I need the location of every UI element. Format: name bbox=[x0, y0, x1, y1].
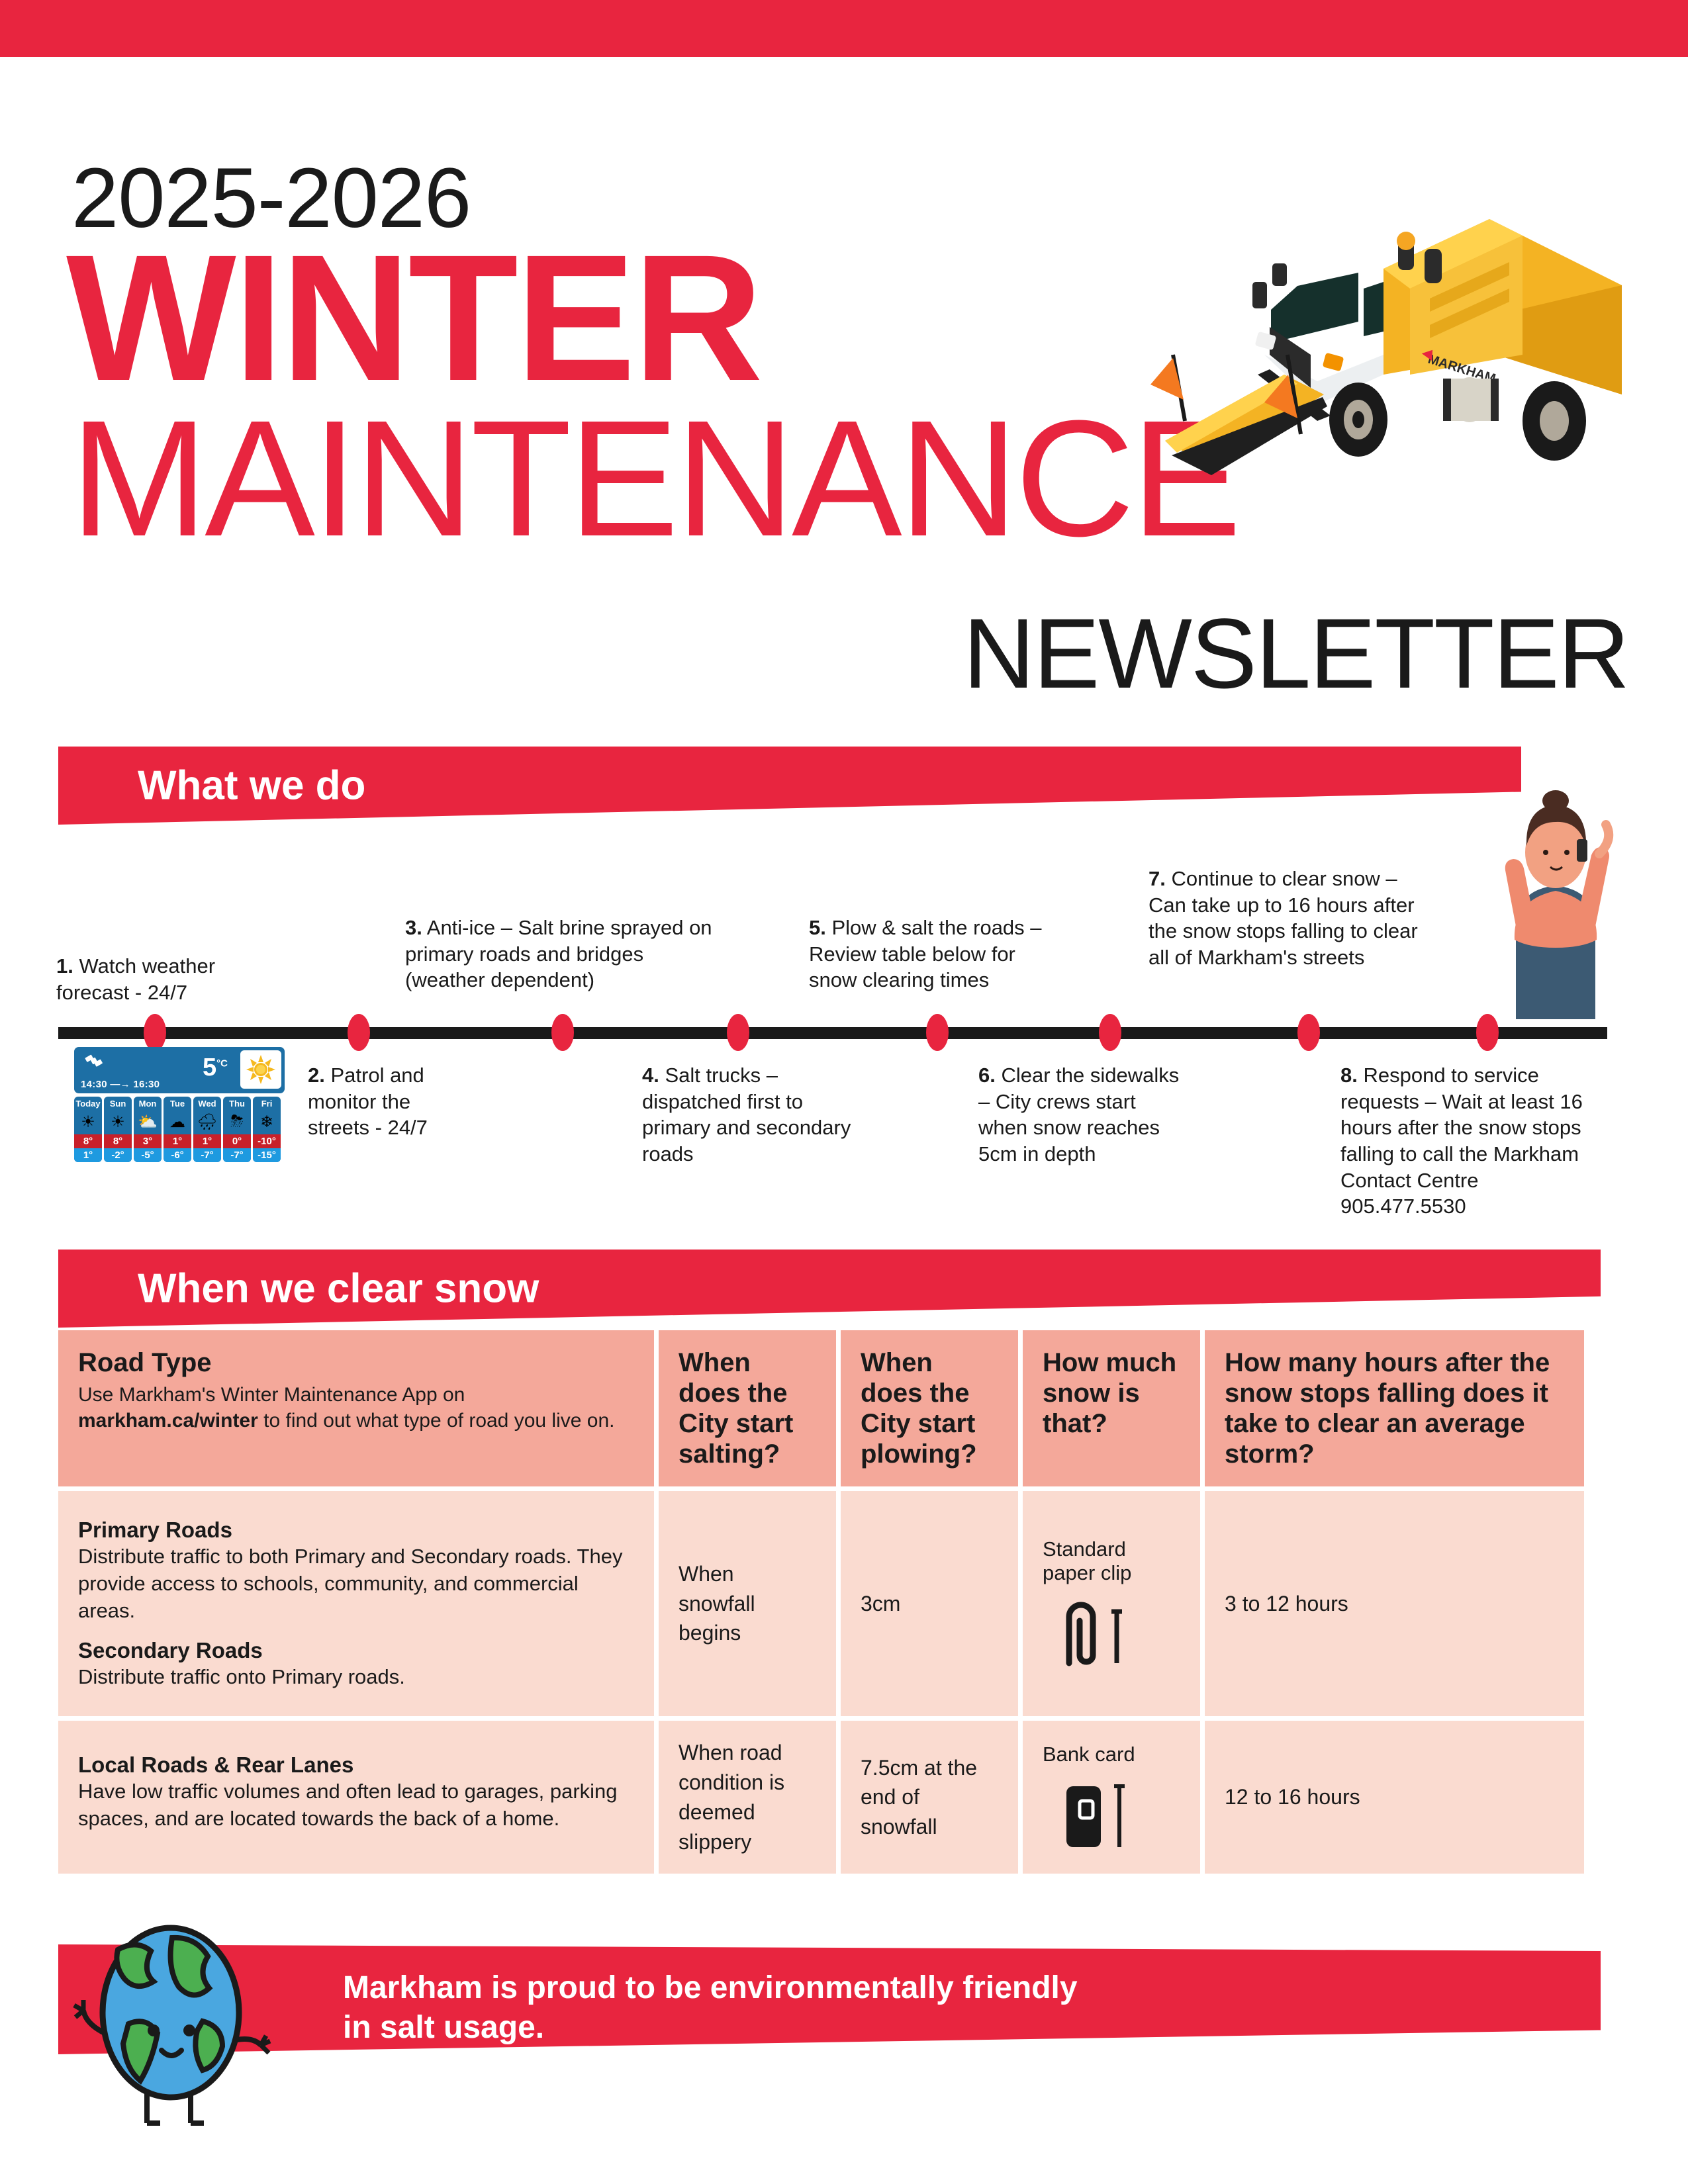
weather-condition-icon: ⛅ bbox=[134, 1109, 162, 1134]
environmental-message-line2: in salt usage. bbox=[343, 2008, 1078, 2048]
timeline-dot-7 bbox=[1297, 1014, 1320, 1051]
timeline-dot-1 bbox=[144, 1014, 166, 1051]
weather-current-panel: 14:30 —→ 16:30 5°C bbox=[74, 1047, 285, 1093]
weather-condition-icon: ❄ bbox=[253, 1109, 281, 1134]
row1-plowing-value: 3cm bbox=[861, 1589, 900, 1619]
bank-card-icon bbox=[1043, 1776, 1180, 1852]
environmental-message-banner: Markham is proud to be environmentally f… bbox=[58, 1944, 1601, 2054]
header-cell-clearing-hours: How many hours after the snow stops fall… bbox=[1205, 1330, 1584, 1486]
timeline-step-2-text: Patrol and monitor the streets - 24/7 bbox=[308, 1064, 428, 1139]
header-road-type-subtitle: Use Markham's Winter Maintenance App on … bbox=[78, 1382, 634, 1433]
weather-current-temp: 5°C bbox=[203, 1054, 228, 1082]
timeline-step-5-text: Plow & salt the roads – Review table bel… bbox=[809, 916, 1042, 991]
title-winter: WINTER bbox=[66, 228, 761, 408]
header-cell-salting: When does the City start salting? bbox=[659, 1330, 836, 1486]
timeline-dot-3 bbox=[551, 1014, 574, 1051]
row2-hours-cell: 12 to 16 hours bbox=[1205, 1721, 1584, 1874]
row2-snow-caption: Bank card bbox=[1043, 1743, 1180, 1766]
forecast-day-name: Wed bbox=[193, 1097, 221, 1109]
weather-condition-icon: 🌧 bbox=[193, 1109, 221, 1134]
forecast-low: -15° bbox=[253, 1148, 281, 1162]
timeline-step-1-number: 1. bbox=[56, 954, 73, 978]
header-cell-snow-amount: How much snow is that? bbox=[1023, 1330, 1200, 1486]
forecast-day-name: Mon bbox=[134, 1097, 162, 1109]
timeline-step-1: 1. Watch weather forecast - 24/7 bbox=[56, 953, 275, 1005]
timeline-step-3: 3. Anti-ice – Salt brine sprayed on prim… bbox=[405, 915, 716, 993]
timeline-step-6-number: 6. bbox=[978, 1064, 996, 1087]
row2-local-title: Local Roads & Rear Lanes bbox=[78, 1751, 634, 1778]
earth-mascot-icon bbox=[73, 1910, 271, 2128]
timeline-step-4: 4. Salt trucks – dispatched first to pri… bbox=[642, 1062, 861, 1167]
table-header-row: Road Type Use Markham's Winter Maintenan… bbox=[58, 1330, 1601, 1486]
timeline-dot-2 bbox=[348, 1014, 370, 1051]
row1-snow-caption: Standard paper clip bbox=[1043, 1537, 1180, 1585]
header-salting-label: When does the City start salting? bbox=[679, 1347, 816, 1469]
table-row: Local Roads & Rear Lanes Have low traffi… bbox=[58, 1721, 1601, 1874]
row1-salting-cell: When snowfall begins bbox=[659, 1491, 836, 1716]
timeline-step-5-number: 5. bbox=[809, 916, 826, 939]
road-type-sub-b: to find out what type of road you live o… bbox=[258, 1410, 615, 1432]
sun-icon bbox=[240, 1050, 281, 1089]
table-row: Primary Roads Distribute traffic to both… bbox=[58, 1491, 1601, 1716]
header-snow-label: How much snow is that? bbox=[1043, 1347, 1180, 1439]
paper-clip-icon bbox=[1043, 1594, 1180, 1670]
forecast-high: -10° bbox=[253, 1134, 281, 1148]
forecast-high: 1° bbox=[193, 1134, 221, 1148]
environmental-message: Markham is proud to be environmentally f… bbox=[343, 1968, 1078, 2047]
timeline-step-8-number: 8. bbox=[1340, 1064, 1358, 1087]
row2-local-desc: Have low traffic volumes and often lead … bbox=[78, 1778, 634, 1833]
timeline-step-5: 5. Plow & salt the roads – Review table … bbox=[809, 915, 1067, 993]
forecast-day: Tue ☁ 1° -6° bbox=[164, 1097, 191, 1162]
timeline-step-3-number: 3. bbox=[405, 916, 422, 939]
row1-salting-value: When snowfall begins bbox=[679, 1559, 816, 1648]
timeline-dot-5 bbox=[926, 1014, 949, 1051]
forecast-day-name: Thu bbox=[223, 1097, 251, 1109]
weather-time-range: 14:30 —→ 16:30 bbox=[81, 1079, 160, 1090]
timeline-step-3-text: Anti-ice – Salt brine sprayed on primary… bbox=[405, 916, 712, 991]
forecast-day-name: Sun bbox=[104, 1097, 132, 1109]
title-maintenance: MAINTENANCE bbox=[70, 396, 1239, 561]
top-red-bar bbox=[0, 0, 1688, 57]
row1-primary-desc: Distribute traffic to both Primary and S… bbox=[78, 1543, 634, 1625]
weather-condition-icon: ☀ bbox=[74, 1109, 102, 1134]
newsletter-page: 2025-2026 WINTER MAINTENANCE NEWSLETTER bbox=[0, 0, 1688, 2184]
header-road-type-title: Road Type bbox=[78, 1347, 634, 1378]
forecast-day-name: Tue bbox=[164, 1097, 191, 1109]
timeline-dot-4 bbox=[727, 1014, 749, 1051]
row2-salting-value: When road condition is deemed slippery bbox=[679, 1738, 816, 1856]
snow-clearing-table: Road Type Use Markham's Winter Maintenan… bbox=[58, 1330, 1601, 1878]
row1-plowing-cell: 3cm bbox=[841, 1491, 1018, 1716]
header-cell-plowing: When does the City start plowing? bbox=[841, 1330, 1018, 1486]
section-header-when-we-clear-snow: When we clear snow bbox=[58, 1250, 1601, 1328]
forecast-low: 1° bbox=[74, 1148, 102, 1162]
row2-road-type-cell: Local Roads & Rear Lanes Have low traffi… bbox=[58, 1721, 654, 1874]
section-title: When we clear snow bbox=[138, 1265, 539, 1312]
weather-forecast-days: Today ☀ 8° 1° Sun ☀ 8° -2° Mon ⛅ 3° -5° … bbox=[74, 1097, 285, 1162]
woman-on-phone-icon bbox=[1476, 735, 1635, 1019]
forecast-low: -7° bbox=[223, 1148, 251, 1162]
forecast-day-name: Today bbox=[74, 1097, 102, 1109]
forecast-high: 0° bbox=[223, 1134, 251, 1148]
weather-temp-unit: °C bbox=[216, 1058, 228, 1069]
timeline-step-4-text: Salt trucks – dispatched first to primar… bbox=[642, 1064, 851, 1165]
row1-secondary-title: Secondary Roads bbox=[78, 1637, 634, 1664]
row2-plowing-cell: 7.5cm at the end of snowfall bbox=[841, 1721, 1018, 1874]
row1-hours-cell: 3 to 12 hours bbox=[1205, 1491, 1584, 1716]
weather-condition-icon: ☁ bbox=[164, 1109, 191, 1134]
forecast-high: 1° bbox=[164, 1134, 191, 1148]
timeline-axis bbox=[58, 1027, 1607, 1039]
timeline-step-6: 6. Clear the sidewalks – City crews star… bbox=[978, 1062, 1190, 1167]
timeline-dot-8 bbox=[1476, 1014, 1499, 1051]
forecast-day: Fri ❄ -10° -15° bbox=[253, 1097, 281, 1162]
timeline-step-8-text: Respond to service requests – Wait at le… bbox=[1340, 1064, 1583, 1218]
timeline-step-7: 7. Continue to clear snow – Can take up … bbox=[1149, 866, 1433, 971]
header-hours-label: How many hours after the snow stops fall… bbox=[1225, 1347, 1564, 1469]
weather-forecast-widget: 14:30 —→ 16:30 5°C Today ☀ bbox=[74, 1047, 285, 1167]
satellite-icon bbox=[83, 1052, 106, 1077]
weather-condition-icon: ☀ bbox=[104, 1109, 132, 1134]
forecast-low: -2° bbox=[104, 1148, 132, 1162]
forecast-day: Today ☀ 8° 1° bbox=[74, 1097, 102, 1162]
what-we-do-timeline: 1. Watch weather forecast - 24/7 3. Anti… bbox=[0, 834, 1688, 1244]
timeline-step-6-text: Clear the sidewalks – City crews start w… bbox=[978, 1064, 1179, 1165]
header-cell-road-type: Road Type Use Markham's Winter Maintenan… bbox=[58, 1330, 654, 1486]
timeline-step-2-number: 2. bbox=[308, 1064, 325, 1087]
row1-snow-cell: Standard paper clip bbox=[1023, 1491, 1200, 1716]
forecast-day: Sun ☀ 8° -2° bbox=[104, 1097, 132, 1162]
timeline-step-4-number: 4. bbox=[642, 1064, 659, 1087]
header-plowing-label: When does the City start plowing? bbox=[861, 1347, 998, 1469]
timeline-dot-6 bbox=[1099, 1014, 1121, 1051]
row1-primary-title: Primary Roads bbox=[78, 1516, 634, 1543]
forecast-day: Thu ⛈ 0° -7° bbox=[223, 1097, 251, 1162]
weather-temp-value: 5 bbox=[203, 1054, 216, 1081]
forecast-high: 8° bbox=[74, 1134, 102, 1148]
markham-winter-link[interactable]: markham.ca/winter bbox=[78, 1410, 258, 1432]
forecast-low: -6° bbox=[164, 1148, 191, 1162]
weather-condition-icon: ⛈ bbox=[223, 1109, 251, 1134]
row2-plowing-value: 7.5cm at the end of snowfall bbox=[861, 1753, 998, 1842]
row1-road-type-cell: Primary Roads Distribute traffic to both… bbox=[58, 1491, 654, 1716]
row2-snow-cell: Bank card bbox=[1023, 1721, 1200, 1874]
road-type-sub-a: Use Markham's Winter Maintenance App on bbox=[78, 1384, 465, 1406]
snow-plow-truck-icon: MARKHAM bbox=[1099, 156, 1628, 507]
forecast-day: Wed 🌧 1° -7° bbox=[193, 1097, 221, 1162]
section-title: What we do bbox=[138, 762, 365, 809]
timeline-step-7-text: Continue to clear snow – Can take up to … bbox=[1149, 867, 1418, 969]
title-newsletter: NEWSLETTER bbox=[963, 604, 1628, 703]
timeline-step-2: 2. Patrol and monitor the streets - 24/7 bbox=[308, 1062, 467, 1141]
forecast-low: -7° bbox=[193, 1148, 221, 1162]
forecast-day-name: Fri bbox=[253, 1097, 281, 1109]
row1-hours-value: 3 to 12 hours bbox=[1225, 1589, 1348, 1619]
row2-hours-value: 12 to 16 hours bbox=[1225, 1782, 1360, 1812]
timeline-step-1-text: Watch weather forecast - 24/7 bbox=[56, 954, 215, 1004]
section-header-what-we-do: What we do bbox=[58, 747, 1521, 825]
forecast-day: Mon ⛅ 3° -5° bbox=[134, 1097, 162, 1162]
row2-salting-cell: When road condition is deemed slippery bbox=[659, 1721, 836, 1874]
row1-secondary-desc: Distribute traffic onto Primary roads. bbox=[78, 1664, 634, 1691]
masthead: 2025-2026 WINTER MAINTENANCE NEWSLETTER bbox=[0, 57, 1688, 712]
forecast-low: -5° bbox=[134, 1148, 162, 1162]
forecast-high: 3° bbox=[134, 1134, 162, 1148]
timeline-step-7-number: 7. bbox=[1149, 867, 1166, 890]
environmental-message-line1: Markham is proud to be environmentally f… bbox=[343, 1968, 1078, 2008]
forecast-high: 8° bbox=[104, 1134, 132, 1148]
timeline-step-8: 8. Respond to service requests – Wait at… bbox=[1340, 1062, 1605, 1220]
